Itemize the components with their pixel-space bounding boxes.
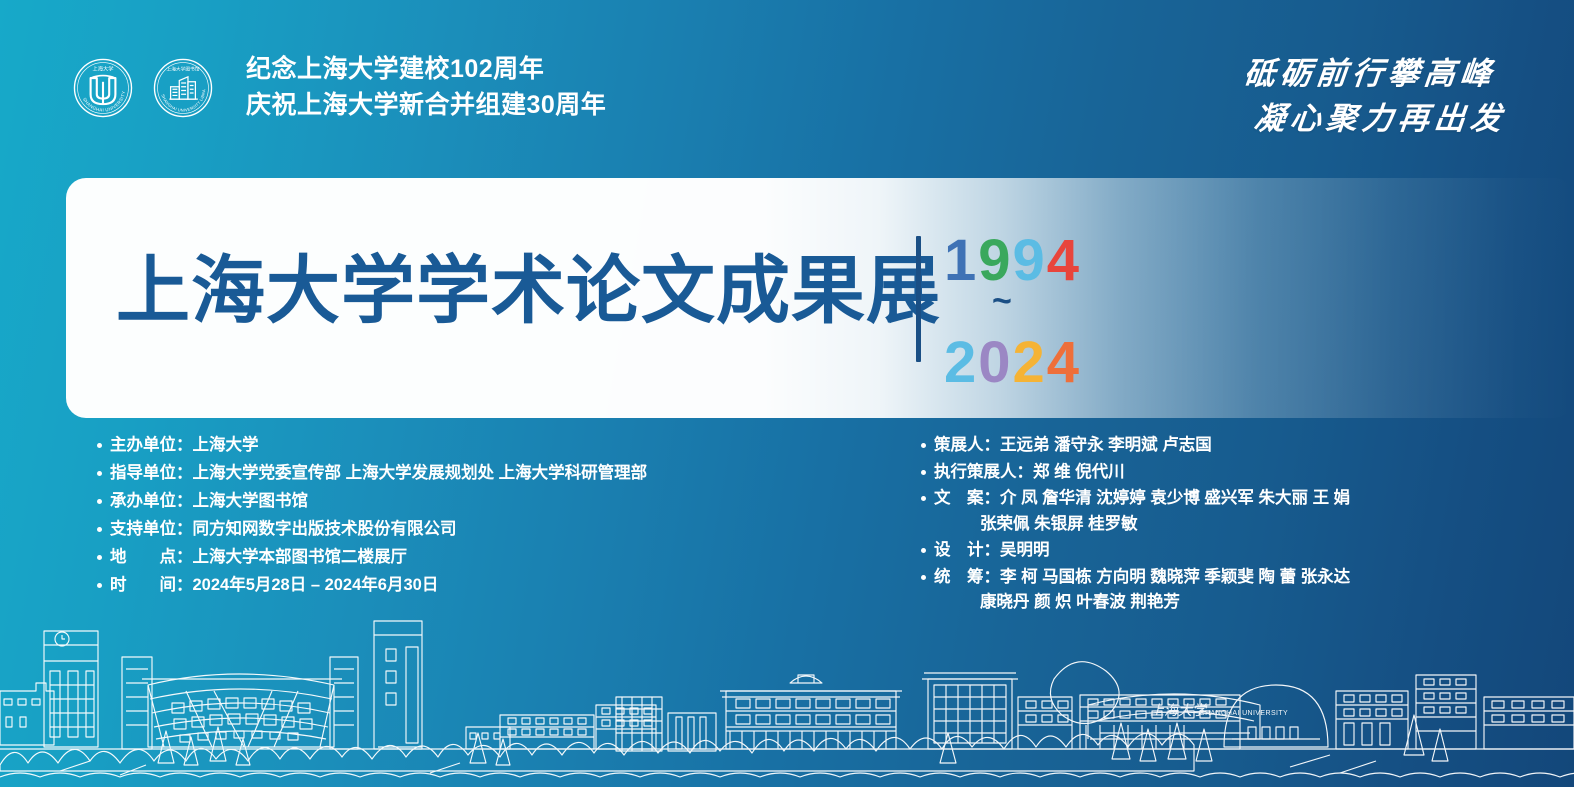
credits-info-item: 设 计：吴明明	[921, 542, 1350, 559]
credits-info-label: 策展人：	[934, 436, 1000, 454]
page-title: 上海大学学术论文成果展	[116, 254, 941, 328]
bullet-icon	[97, 555, 102, 560]
poster-root: 上海大学 SHANGHAI UNIVERSITY 上海大学图书馆 SHANGHA…	[0, 0, 1574, 787]
svg-text:SHANGHAI UNIVERSITY: SHANGHAI UNIVERSITY	[82, 90, 126, 112]
shanghai-university-logo: 上海大学 SHANGHAI UNIVERSITY	[72, 57, 134, 119]
organizer-info-body: 承办单位：上海大学图书馆	[110, 493, 308, 510]
credits-info-value: 介 凤 詹华清 沈婷婷 袁少博 盛兴军 朱大丽 王 娟	[1000, 489, 1350, 507]
year-start-digit-2: 9	[1013, 228, 1047, 293]
organizer-info-item: 时 间：2024年5月28日 – 2024年6月30日	[97, 577, 647, 594]
year-start-digit-0: 1	[944, 228, 978, 293]
year-end-digit-2: 2	[1013, 330, 1047, 395]
credits-info-item: 执行策展人：郑 维 倪代川	[921, 464, 1350, 481]
organizer-info-label: 主办单位：	[110, 436, 193, 454]
svg-text:上海大学图书馆: 上海大学图书馆	[167, 65, 200, 72]
header: 上海大学 SHANGHAI UNIVERSITY 上海大学图书馆 SHANGHA…	[72, 52, 606, 123]
organizer-info-item: 支持单位：同方知网数字出版技术股份有限公司	[97, 521, 647, 538]
year-range-tilde: ~	[992, 284, 1012, 318]
credits-info-label: 统 筹：	[934, 568, 1000, 586]
organizer-info-label: 支持单位：	[110, 520, 193, 538]
calligraphy-line-2: 凝心聚力再出发	[1216, 97, 1509, 142]
year-range-block: 1994 ~ 2024	[944, 232, 1081, 392]
credits-info-item: 文 案：介 凤 詹华清 沈婷婷 袁少博 盛兴军 朱大丽 王 娟张荣佩 朱银屏 桂…	[921, 490, 1350, 532]
gate-sign-cn: 上海大学	[1150, 703, 1208, 719]
credits-info-label: 文 案：	[934, 489, 1000, 507]
organizer-info-value: 2024年5月28日 – 2024年6月30日	[193, 576, 439, 594]
organizer-info-item: 地 点：上海大学本部图书馆二楼展厅	[97, 549, 647, 566]
credits-info-value: 李 柯 马国栋 方向明 魏晓萍 季颖斐 陶 蕾 张永达	[1000, 568, 1350, 586]
organizer-info-body: 支持单位：同方知网数字出版技术股份有限公司	[110, 521, 457, 538]
credits-info-body: 设 计：吴明明	[934, 542, 1050, 559]
bullet-icon	[97, 499, 102, 504]
calligraphy-line-1: 砥砺前行攀高峰	[1216, 52, 1499, 97]
organizer-info-value: 上海大学党委宣传部 上海大学发展规划处 上海大学科研管理部	[193, 464, 648, 482]
bullet-icon	[921, 496, 926, 501]
organizer-info-label: 承办单位：	[110, 492, 193, 510]
organizer-info-item: 承办单位：上海大学图书馆	[97, 493, 647, 510]
credits-info-body: 统 筹：李 柯 马国栋 方向明 魏晓萍 季颖斐 陶 蕾 张永达康晓丹 颜 炽 叶…	[934, 569, 1350, 611]
organizer-info-value: 上海大学	[193, 436, 259, 454]
organizer-info-body: 时 间：2024年5月28日 – 2024年6月30日	[110, 577, 438, 594]
bullet-icon	[97, 443, 102, 448]
year-start-digit-3: 4	[1047, 228, 1081, 293]
calligraphy-slogan: 砥砺前行攀高峰 凝心聚力再出发	[1218, 52, 1496, 142]
year-end-digit-3: 4	[1047, 330, 1081, 395]
organizer-info-value: 上海大学本部图书馆二楼展厅	[193, 548, 408, 566]
organizer-info-body: 指导单位：上海大学党委宣传部 上海大学发展规划处 上海大学科研管理部	[110, 465, 647, 482]
credits-info-body: 文 案：介 凤 詹华清 沈婷婷 袁少博 盛兴军 朱大丽 王 娟张荣佩 朱银屏 桂…	[934, 490, 1350, 532]
credits-info-value: 吴明明	[1000, 541, 1050, 559]
header-line-2: 庆祝上海大学新合并组建30周年	[246, 88, 606, 124]
bullet-icon	[921, 470, 926, 475]
credits-info-body: 策展人：王远弟 潘守永 李明斌 卢志国	[934, 437, 1212, 454]
year-end-digit-1: 0	[978, 330, 1012, 395]
organizer-info-value: 上海大学图书馆	[193, 492, 309, 510]
credits-info-value: 王远弟 潘守永 李明斌 卢志国	[1000, 436, 1212, 454]
organizer-info-label: 时 间：	[110, 576, 193, 594]
organizer-info-label: 指导单位：	[110, 464, 193, 482]
shanghai-university-library-logo: 上海大学图书馆 SHANGHAI UNIVERSITY LIBRARY	[152, 57, 214, 119]
organizer-info-item: 主办单位：上海大学	[97, 437, 647, 454]
credits-info-list: 策展人：王远弟 潘守永 李明斌 卢志国执行策展人：郑 维 倪代川文 案：介 凤 …	[921, 437, 1350, 621]
gate-sign-en: SHANGHAI UNIVERSITY	[1200, 710, 1288, 717]
year-end: 2024	[944, 334, 1081, 392]
organizer-info-body: 地 点：上海大学本部图书馆二楼展厅	[110, 549, 407, 566]
credits-info-value-continued: 康晓丹 颜 炽 叶春波 荆艳芳	[934, 594, 1350, 611]
bullet-icon	[97, 527, 102, 532]
organizer-info-label: 地 点：	[110, 548, 193, 566]
bullet-icon	[97, 583, 102, 588]
header-line-1: 纪念上海大学建校102周年	[246, 52, 606, 88]
year-start: 1994	[944, 232, 1081, 290]
organizer-info-value: 同方知网数字出版技术股份有限公司	[193, 520, 457, 538]
organizer-info-list: 主办单位：上海大学指导单位：上海大学党委宣传部 上海大学发展规划处 上海大学科研…	[97, 437, 647, 605]
credits-info-value-continued: 张荣佩 朱银屏 桂罗敏	[934, 516, 1350, 533]
credits-info-item: 统 筹：李 柯 马国栋 方向明 魏晓萍 季颖斐 陶 蕾 张永达康晓丹 颜 炽 叶…	[921, 569, 1350, 611]
organizer-info-body: 主办单位：上海大学	[110, 437, 259, 454]
year-end-digit-0: 2	[944, 330, 978, 395]
year-divider-bar	[916, 236, 921, 362]
bullet-icon	[921, 575, 926, 580]
svg-text:上海大学: 上海大学	[92, 64, 113, 72]
header-title-block: 纪念上海大学建校102周年 庆祝上海大学新合并组建30周年	[246, 52, 606, 123]
bullet-icon	[921, 548, 926, 553]
bullet-icon	[921, 443, 926, 448]
bullet-icon	[97, 471, 102, 476]
credits-info-label: 设 计：	[934, 541, 1000, 559]
organizer-info-item: 指导单位：上海大学党委宣传部 上海大学发展规划处 上海大学科研管理部	[97, 465, 647, 482]
credits-info-label: 执行策展人：	[934, 463, 1033, 481]
credits-info-body: 执行策展人：郑 维 倪代川	[934, 464, 1125, 481]
credits-info-value: 郑 维 倪代川	[1033, 463, 1125, 481]
credits-info-item: 策展人：王远弟 潘守永 李明斌 卢志国	[921, 437, 1350, 454]
